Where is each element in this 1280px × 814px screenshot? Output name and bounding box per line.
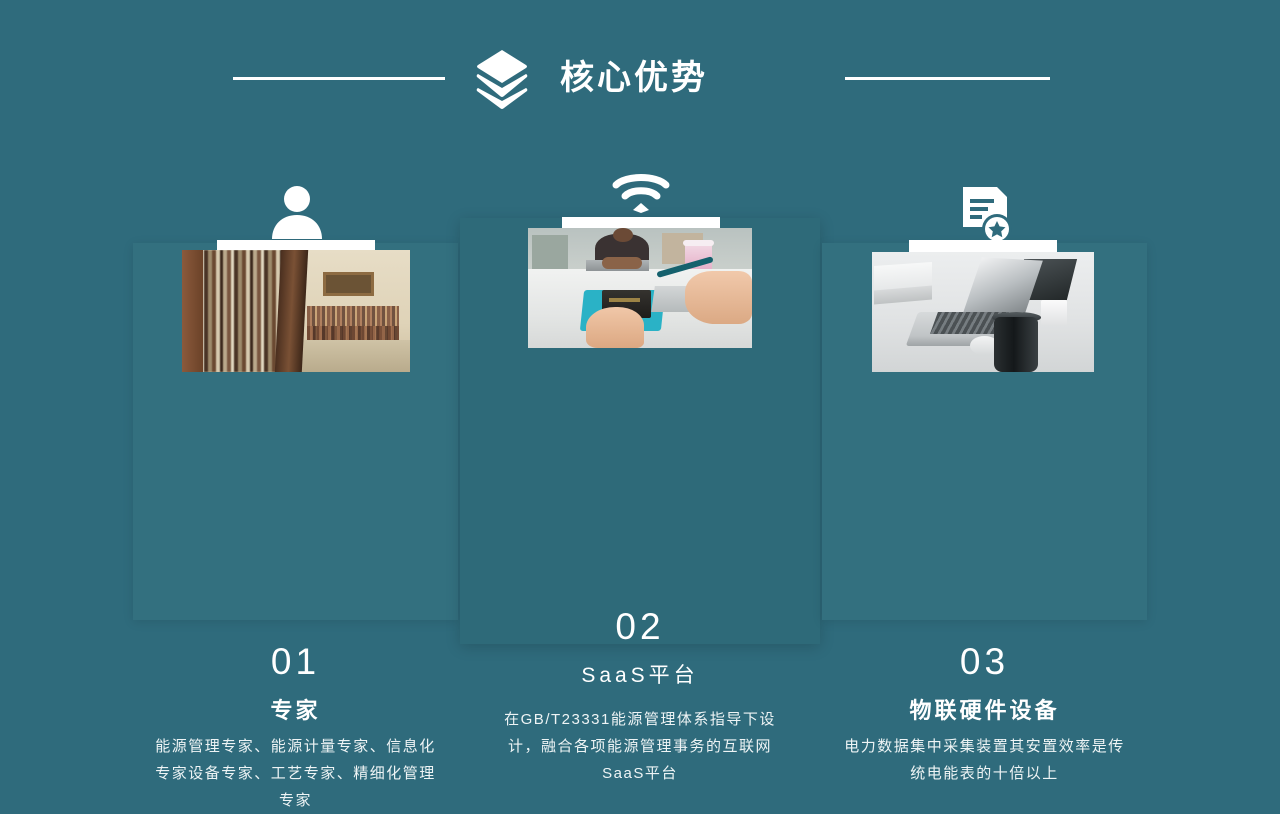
- card-body-text: 在GB/T23331能源管理体系指导下设计，融合各项能源管理事务的互联网SaaS…: [490, 706, 790, 787]
- certificate-document-icon: [957, 185, 1013, 245]
- card-title: 专家: [133, 693, 458, 725]
- card-title: 物联硬件设备: [822, 693, 1147, 725]
- card-number: 01: [133, 641, 458, 683]
- header-rule-left: [233, 77, 445, 80]
- card-number: 02: [460, 606, 820, 648]
- layers-stack-icon: [470, 48, 534, 110]
- card-number: 03: [822, 641, 1147, 683]
- card-title: SaaS平台: [460, 659, 820, 689]
- library-bookshelves-photo: [182, 250, 410, 372]
- page-header: 核心优势: [0, 0, 1280, 150]
- person-icon: [268, 183, 326, 241]
- header-rule-right: [845, 77, 1050, 80]
- page-title: 核心优势: [560, 52, 860, 104]
- card-body-text: 能源管理专家、能源计量专家、信息化专家设备专家、工艺专家、精细化管理专家: [155, 733, 436, 814]
- people-at-desk-photo: [528, 228, 752, 348]
- card-body-text: 电力数据集中采集装置其安置效率是传统电能表的十倍以上: [844, 733, 1125, 787]
- wifi-icon: [612, 172, 670, 214]
- laptop-on-desk-photo: [872, 252, 1094, 372]
